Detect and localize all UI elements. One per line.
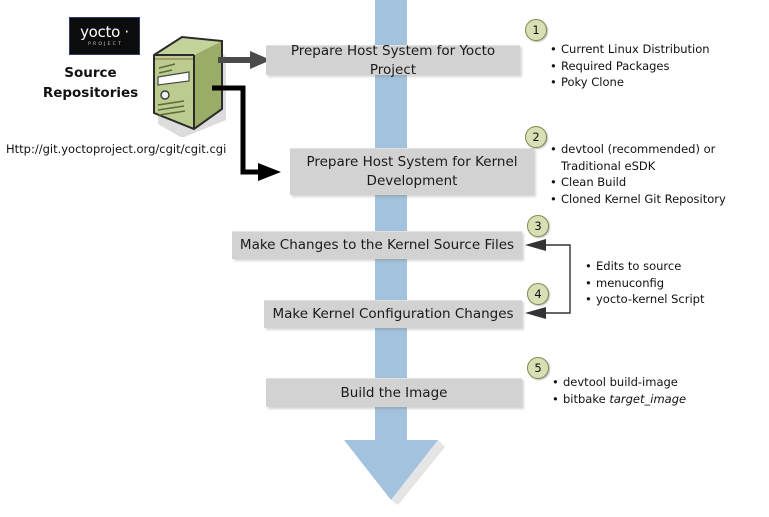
list-item: yocto-kernel Script	[585, 291, 705, 308]
step-2-bullets: devtool (recommended) or Traditional eSD…	[550, 141, 726, 207]
step-badge-5: 5	[527, 357, 549, 379]
step-box-2-label-line2: Development	[367, 172, 458, 191]
step-badge-5-number: 5	[534, 361, 541, 375]
list-item: Required Packages	[550, 58, 710, 75]
list-item-continuation: Traditional eSDK	[550, 158, 726, 175]
step-box-1[interactable]: Prepare Host System for Yocto Project	[266, 45, 520, 75]
step-box-4-label: Make Kernel Configuration Changes	[272, 305, 513, 324]
step-badge-1-number: 1	[532, 23, 539, 37]
step-badge-4: 4	[527, 283, 549, 305]
step-box-3[interactable]: Make Changes to the Kernel Source Files	[232, 231, 522, 259]
diagram-canvas: yocto · PROJECT Source Repositories Http…	[0, 0, 769, 517]
step-5-bullets: devtool build-image bitbake target_image	[552, 374, 686, 407]
list-item: menuconfig	[585, 275, 705, 292]
steps-3-4-bullets: Edits to source menuconfig yocto-kernel …	[585, 258, 705, 308]
step-badge-2: 2	[525, 126, 547, 148]
list-item: devtool (recommended) or	[550, 141, 726, 158]
step-badge-4-number: 4	[534, 287, 541, 301]
step-box-2[interactable]: Prepare Host System for Kernel Developme…	[290, 148, 534, 195]
list-item: Cloned Kernel Git Repository	[550, 191, 726, 208]
step-badge-2-number: 2	[532, 130, 539, 144]
step-box-5-label: Build the Image	[341, 384, 448, 403]
bitbake-label: bitbake	[563, 392, 609, 406]
list-item: devtool build-image	[552, 374, 686, 391]
bitbake-target-image: target_image	[609, 392, 686, 406]
list-item: bitbake target_image	[552, 391, 686, 408]
step-box-3-label: Make Changes to the Kernel Source Files	[240, 236, 514, 255]
step-box-2-label-line1: Prepare Host System for Kernel	[306, 153, 517, 172]
step-box-1-label: Prepare Host System for Yocto Project	[266, 42, 520, 80]
step-badge-3: 3	[527, 215, 549, 237]
list-item: Poky Clone	[550, 74, 710, 91]
step-box-5[interactable]: Build the Image	[266, 378, 522, 407]
step-1-bullets: Current Linux Distribution Required Pack…	[550, 41, 710, 91]
list-item: Edits to source	[585, 258, 705, 275]
list-item: Clean Build	[550, 174, 726, 191]
step-box-4[interactable]: Make Kernel Configuration Changes	[264, 300, 522, 328]
step-badge-3-number: 3	[534, 219, 541, 233]
step-badge-1: 1	[525, 19, 547, 41]
list-item: Current Linux Distribution	[550, 41, 710, 58]
